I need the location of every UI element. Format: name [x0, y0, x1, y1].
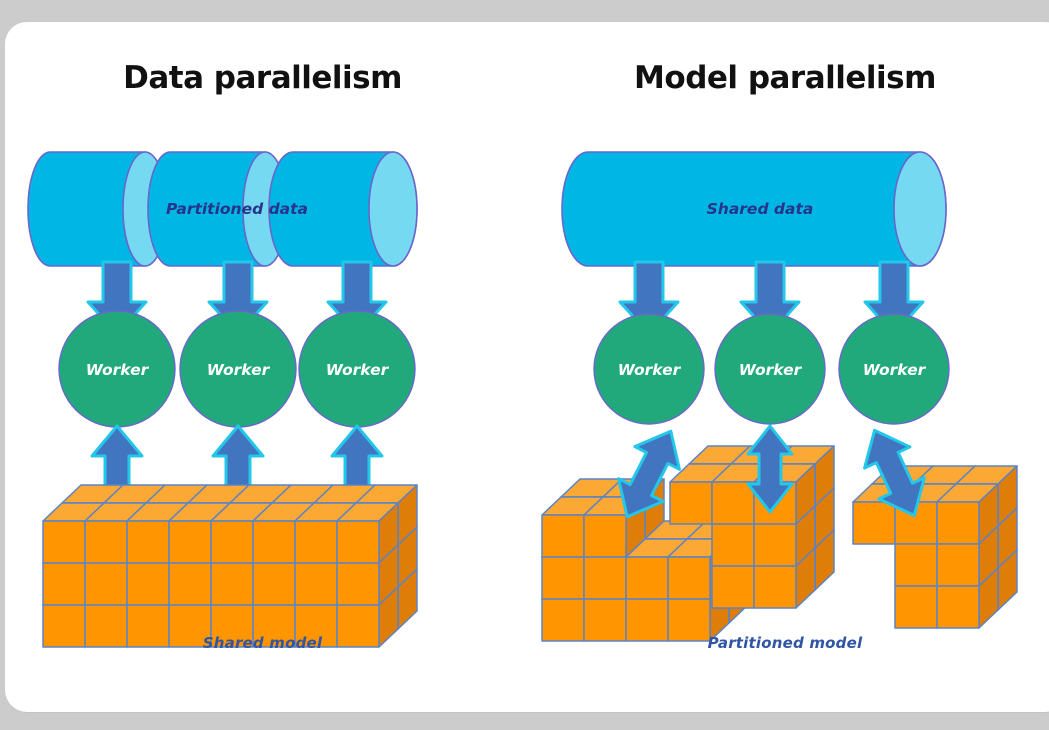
cube-face-front [542, 557, 584, 599]
database-cylinder-icon[interactable] [28, 152, 167, 266]
worker-node-icon[interactable]: Worker [715, 314, 825, 424]
cube-face-front [853, 502, 895, 544]
cube-face-front [43, 563, 85, 605]
cube-face-front [584, 557, 626, 599]
cube-face-front [169, 521, 211, 563]
worker-node-icon[interactable]: Worker [299, 311, 415, 427]
cube-face-front [295, 563, 337, 605]
shared-data-label: Shared data [707, 200, 814, 218]
worker-group-right: Worker Worker Worker [594, 314, 949, 424]
cube-face-front [584, 515, 626, 557]
cube-face-front [85, 563, 127, 605]
worker-group-left: Worker Worker Worker [59, 311, 415, 427]
cube-face-front [937, 586, 979, 628]
panel-data-parallelism: Data parallelism [5, 22, 520, 712]
cube-face-front [85, 521, 127, 563]
cube-face-front [211, 521, 253, 563]
worker-node-icon[interactable]: Worker [594, 314, 704, 424]
cube-face-front [169, 563, 211, 605]
worker-node-icon[interactable]: Worker [180, 311, 296, 427]
cube-face-front [895, 586, 937, 628]
diagram-card: Data parallelism [5, 22, 1049, 712]
cube-block-icon [43, 485, 417, 647]
cube-face-front [754, 524, 796, 566]
cube-face-front [937, 502, 979, 544]
cube-face-front [295, 521, 337, 563]
panel-model-parallelism: Model parallelism Shared data [520, 22, 1049, 712]
diagram-canvas: Data parallelism [0, 0, 1049, 730]
worker-label: Worker [86, 361, 150, 379]
worker-label: Worker [739, 361, 803, 379]
cube-face-front [754, 566, 796, 608]
worker-node-icon[interactable]: Worker [839, 314, 949, 424]
worker-label: Worker [618, 361, 682, 379]
cube-face-front [253, 521, 295, 563]
partitioned-data-label: Partitioned data [166, 200, 308, 218]
shared-model-block-group[interactable] [43, 485, 417, 647]
cube-face-front [712, 524, 754, 566]
cube-face-front [211, 563, 253, 605]
cube-face-front [542, 515, 584, 557]
cube-face-front [253, 563, 295, 605]
database-cylinder-icon[interactable]: Shared data [562, 152, 946, 266]
worker-node-icon[interactable]: Worker [59, 311, 175, 427]
worker-label: Worker [207, 361, 271, 379]
cylinder-group-partitioned-data: Partitioned data [28, 152, 417, 266]
worker-label: Worker [326, 361, 390, 379]
cube-face-front [127, 521, 169, 563]
partitioned-model-label: Partitioned model [520, 634, 1049, 652]
cube-face-front [43, 521, 85, 563]
cube-face-front [670, 482, 712, 524]
cube-face-front [712, 566, 754, 608]
worker-label: Worker [863, 361, 927, 379]
cube-face-front [712, 482, 754, 524]
shared-model-label: Shared model [5, 634, 520, 652]
cube-face-front [937, 544, 979, 586]
cube-face-front [127, 563, 169, 605]
cube-face-front [668, 557, 710, 599]
cube-face-front [626, 557, 668, 599]
cube-face-front [895, 544, 937, 586]
cube-face-front [337, 563, 379, 605]
cube-face-front [337, 521, 379, 563]
right-panel-graphics: Shared data Worker Worker [520, 22, 1049, 712]
cube-block-icon [853, 466, 1017, 628]
left-panel-graphics: Partitioned data Worker Work [5, 22, 520, 712]
